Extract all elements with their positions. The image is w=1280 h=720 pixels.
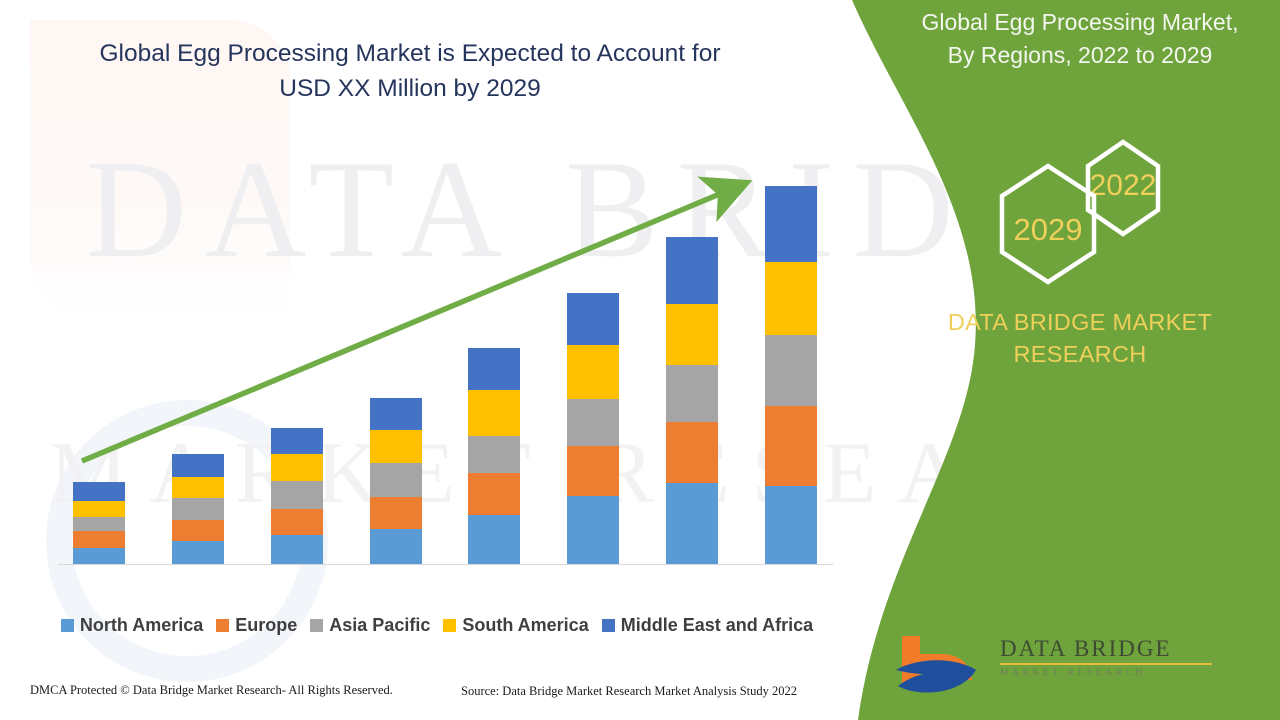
legend-item[interactable]: Middle East and Africa bbox=[602, 615, 813, 636]
legend-swatch-icon bbox=[61, 619, 74, 632]
stacked-bar[interactable] bbox=[468, 348, 520, 564]
bar-segment[interactable] bbox=[73, 501, 125, 517]
logo-sub-text: MARKET RESEARCH bbox=[1000, 668, 1240, 678]
bar-column-2029 bbox=[741, 170, 840, 564]
chart-title-line-1: Global Egg Processing Market is Expected… bbox=[60, 36, 760, 71]
stacked-bar[interactable] bbox=[271, 428, 323, 564]
stacked-bar[interactable] bbox=[172, 454, 224, 564]
hexagon-2022-label: 2022 bbox=[1090, 169, 1157, 202]
bar-segment[interactable] bbox=[172, 520, 224, 541]
bar-segment[interactable] bbox=[765, 406, 817, 485]
bar-segment[interactable] bbox=[271, 509, 323, 535]
brand-name: DATA BRIDGE MARKET RESEARCH bbox=[900, 306, 1260, 370]
bar-segment[interactable] bbox=[73, 548, 125, 564]
brand-line-2: RESEARCH bbox=[900, 338, 1260, 370]
bar-segment[interactable] bbox=[370, 529, 422, 564]
bar-segment[interactable] bbox=[468, 436, 520, 472]
bar-segment[interactable] bbox=[172, 498, 224, 520]
bar-column-2025 bbox=[346, 170, 445, 564]
bar-segment[interactable] bbox=[271, 454, 323, 480]
bar-column-2026 bbox=[445, 170, 544, 564]
bar-segment[interactable] bbox=[468, 473, 520, 515]
bar-column-2028 bbox=[643, 170, 742, 564]
bar-column-2022 bbox=[50, 170, 149, 564]
legend-label: Asia Pacific bbox=[329, 615, 430, 636]
bar-segment[interactable] bbox=[172, 454, 224, 476]
logo-divider bbox=[1000, 663, 1212, 665]
legend-swatch-icon bbox=[310, 619, 323, 632]
stacked-bar[interactable] bbox=[567, 293, 619, 564]
plot-area: 20222023202420252026202720282029 bbox=[50, 170, 840, 565]
stacked-bar[interactable] bbox=[765, 186, 817, 564]
bar-segment[interactable] bbox=[73, 517, 125, 531]
hexagon-badges: 2022 2029 bbox=[880, 130, 1280, 300]
bar-segment[interactable] bbox=[370, 398, 422, 430]
bar-segment[interactable] bbox=[765, 186, 817, 262]
bar-column-2023 bbox=[149, 170, 248, 564]
bar-column-2027 bbox=[544, 170, 643, 564]
legend-item[interactable]: North America bbox=[61, 615, 203, 636]
legend-swatch-icon bbox=[216, 619, 229, 632]
bar-segment[interactable] bbox=[370, 497, 422, 529]
bar-segment[interactable] bbox=[765, 486, 817, 564]
bar-segment[interactable] bbox=[172, 541, 224, 564]
bar-segment[interactable] bbox=[567, 345, 619, 399]
bar-segment[interactable] bbox=[271, 535, 323, 564]
bar-segment[interactable] bbox=[370, 463, 422, 497]
chart-legend: North AmericaEuropeAsia PacificSouth Ame… bbox=[42, 615, 832, 636]
bar-segment[interactable] bbox=[567, 399, 619, 446]
bar-segment[interactable] bbox=[567, 446, 619, 495]
stacked-bar[interactable] bbox=[666, 237, 718, 564]
bar-segment[interactable] bbox=[666, 422, 718, 482]
stacked-bar[interactable] bbox=[370, 398, 422, 564]
legend-swatch-icon bbox=[602, 619, 615, 632]
chart-title-line-2: USD XX Million by 2029 bbox=[60, 71, 760, 106]
bar-segment[interactable] bbox=[666, 237, 718, 303]
bar-segment[interactable] bbox=[666, 365, 718, 422]
legend-item[interactable]: South America bbox=[443, 615, 588, 636]
legend-label: Middle East and Africa bbox=[621, 615, 813, 636]
bar-segment[interactable] bbox=[666, 483, 718, 564]
legend-item[interactable]: Europe bbox=[216, 615, 297, 636]
legend-label: Europe bbox=[235, 615, 297, 636]
legend-item[interactable]: Asia Pacific bbox=[310, 615, 430, 636]
infographic-canvas: DATA BRIDGE MARKET RESEARCH Global Egg P… bbox=[0, 0, 1280, 720]
bar-segment[interactable] bbox=[73, 482, 125, 501]
brand-line-1: DATA BRIDGE MARKET bbox=[900, 306, 1260, 338]
bar-segment[interactable] bbox=[271, 428, 323, 454]
bar-column-2024 bbox=[248, 170, 347, 564]
logo-wordmark: DATA BRIDGE MARKET RESEARCH bbox=[1000, 636, 1240, 678]
legend-swatch-icon bbox=[443, 619, 456, 632]
source-text: Source: Data Bridge Market Research Mark… bbox=[461, 684, 797, 699]
bar-segment[interactable] bbox=[765, 335, 817, 406]
bar-segment[interactable] bbox=[468, 390, 520, 436]
logo-main-text: DATA BRIDGE bbox=[1000, 636, 1240, 662]
copyright-text: DMCA Protected © Data Bridge Market Rese… bbox=[30, 683, 393, 698]
bar-group bbox=[50, 170, 840, 564]
stacked-bar[interactable] bbox=[73, 482, 125, 564]
bar-segment[interactable] bbox=[73, 531, 125, 548]
bar-segment[interactable] bbox=[468, 348, 520, 390]
x-axis-line bbox=[58, 564, 833, 565]
bar-segment[interactable] bbox=[567, 496, 619, 564]
bar-segment[interactable] bbox=[765, 262, 817, 334]
panel-title-line-1: Global Egg Processing Market, bbox=[880, 6, 1280, 39]
bar-segment[interactable] bbox=[666, 304, 718, 365]
green-panel-content: Global Egg Processing Market, By Regions… bbox=[880, 0, 1280, 720]
bar-segment[interactable] bbox=[271, 481, 323, 509]
hexagon-2029-label: 2029 bbox=[1014, 212, 1083, 247]
bar-segment[interactable] bbox=[172, 477, 224, 498]
panel-title-line-2: By Regions, 2022 to 2029 bbox=[880, 39, 1280, 72]
bar-segment[interactable] bbox=[567, 293, 619, 345]
legend-label: North America bbox=[80, 615, 203, 636]
legend-label: South America bbox=[462, 615, 588, 636]
panel-title: Global Egg Processing Market, By Regions… bbox=[880, 6, 1280, 72]
bar-segment[interactable] bbox=[370, 430, 422, 462]
chart-title: Global Egg Processing Market is Expected… bbox=[60, 36, 760, 106]
chart-panel: Global Egg Processing Market is Expected… bbox=[0, 0, 880, 720]
bar-segment[interactable] bbox=[468, 515, 520, 564]
